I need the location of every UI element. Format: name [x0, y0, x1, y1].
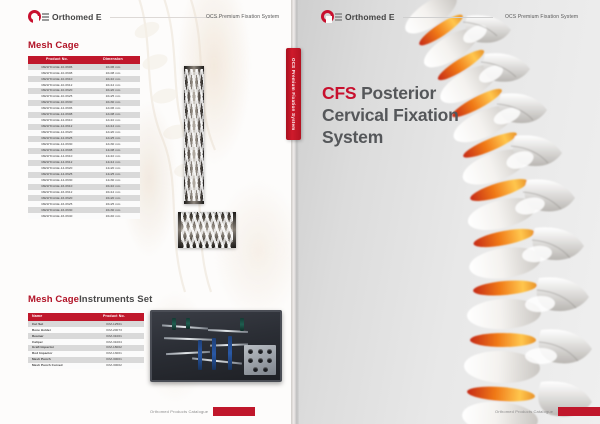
mesh-cage-table-body: MESHCAGE-10-060610x06 mmMESHCAGE-10-0608… [28, 64, 140, 219]
logo-bars-icon [335, 13, 342, 21]
section-title-instruments: Mesh CageInstruments Set [28, 294, 152, 305]
hero-title-line3: System [322, 127, 383, 147]
left-page-header: Orthomed E OCS Premium Fixation System [0, 0, 291, 30]
logo-text: Orthomed E [52, 12, 102, 22]
right-page-footer: Orthomed Products Catalogue [495, 407, 600, 416]
header-rule [110, 17, 220, 18]
hero-title: CFS Posterior Cervical Fixation System [322, 82, 492, 148]
cervical-spine-render [299, 0, 600, 424]
logo-text: Orthomed E [345, 12, 395, 22]
left-page-footer: Orthomed Products Catalogue [150, 407, 255, 416]
footer-text: Orthomed Products Catalogue [495, 409, 553, 414]
catalogue-spread: Orthomed E OCS Premium Fixation System M… [0, 0, 600, 424]
section-title-accent: Mesh Cage [28, 294, 79, 305]
right-page: Orthomed E OCS Premium Fixation System C… [299, 0, 600, 424]
section-title-mesh-cage: Mesh Cage [28, 40, 79, 51]
mesh-cage-short-photo [178, 212, 236, 248]
logo-bars-icon [42, 13, 49, 21]
instruments-table: Name Product No. Cut SetICM-12501Bone Ho… [28, 313, 144, 369]
left-page: Orthomed E OCS Premium Fixation System M… [0, 0, 291, 424]
hero-title-line2: Cervical Fixation [322, 105, 459, 125]
logo[interactable]: Orthomed E [321, 10, 395, 23]
header-rule [403, 17, 493, 18]
table-header-row: Name Product No. [28, 313, 144, 321]
header-system-label: OCS Premium Fixation System [505, 14, 578, 20]
hero-title-accent: CFS [322, 83, 356, 103]
footer-red-bar [558, 407, 600, 416]
section-title-rest: Instruments Set [79, 294, 152, 305]
mesh-cage-table: Product No. Dimension MESHCAGE-10-060610… [28, 56, 140, 219]
footer-red-bar [213, 407, 255, 416]
footer-text: Orthomed Products Catalogue [150, 409, 208, 414]
orthomed-ring-icon [321, 10, 334, 23]
table-row: Mesh Punch CurvedICM-30002 [28, 363, 144, 369]
table-header-row: Product No. Dimension [28, 56, 140, 64]
header-system-label: OCS Premium Fixation System [206, 14, 279, 20]
mesh-cage-cylinder-photo [184, 66, 204, 204]
col-name: Name [28, 313, 84, 321]
cell-product-no: MESHCAGE-16-0640 [28, 213, 86, 219]
cell-name: Mesh Punch Curved [28, 363, 84, 369]
orthomed-ring-icon [28, 10, 41, 23]
side-tab-ocs[interactable]: OCS Premium Fixation System [286, 48, 301, 140]
right-page-header: Orthomed E OCS Premium Fixation System [299, 0, 600, 30]
col-product-no: Product No. [28, 56, 86, 64]
cell-product-no: ICM-30002 [84, 363, 144, 369]
cell-dimension: 16x40 mm [86, 213, 140, 219]
side-tab-label: OCS Premium Fixation System [291, 58, 296, 131]
hero-title-line1: Posterior [356, 83, 436, 103]
col-product-no: Product No. [84, 313, 144, 321]
table-row: MESHCAGE-16-064016x40 mm [28, 213, 140, 219]
instrument-tray-photo [150, 310, 282, 382]
screw-rack [244, 345, 276, 375]
logo[interactable]: Orthomed E [28, 10, 102, 23]
instruments-table-body: Cut SetICM-12501Bone HolderICM-20073Ream… [28, 321, 144, 369]
col-dimension: Dimension [86, 56, 140, 64]
